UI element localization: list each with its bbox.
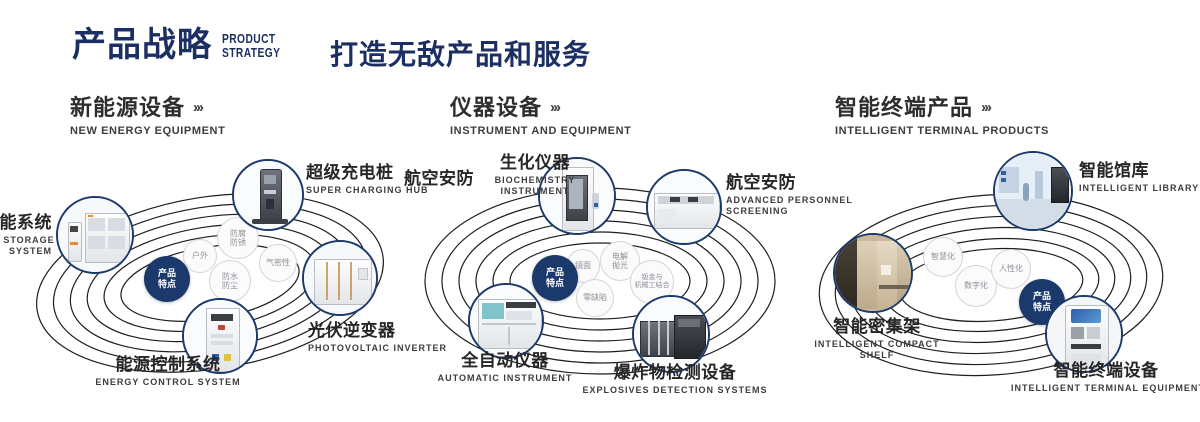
- product-node-intelligent-library[interactable]: [993, 151, 1073, 231]
- product-node-automatic-instrument[interactable]: [468, 283, 544, 359]
- product-node-photovoltaic-inverter[interactable]: [302, 240, 378, 316]
- feature-bubble: 防水防尘: [209, 260, 251, 302]
- page-header: 产品战略 PRODUCT STRATEGY 打造无敌产品和服务: [0, 0, 1200, 88]
- page-title-english: PRODUCT STRATEGY: [222, 30, 280, 59]
- feature-bubble: 气密性: [259, 244, 297, 282]
- feature-bubble: 零缺陷: [576, 279, 614, 317]
- product-label-biochemistry-instrument: 生化仪器 BIOCHEMISTRYINSTRUMENT: [460, 153, 610, 198]
- product-label-energy-control-system: 能源控制系统 ENERGY CONTROL SYSTEM: [68, 355, 268, 388]
- product-label-intelligent-terminal-equipment: 智能终端设备 INTELLIGENT TERMINAL EQUIPMENT: [1011, 361, 1200, 394]
- infographic-root: 产品战略 PRODUCT STRATEGY 打造无敌产品和服务 新能源设备 ››…: [0, 0, 1200, 422]
- product-node-intelligent-compact-shelf[interactable]: [833, 233, 913, 313]
- page-title-english-line2: STRATEGY: [222, 47, 280, 60]
- header-title-group: 产品战略 PRODUCT STRATEGY: [72, 28, 293, 62]
- section-title-intelligent-terminal: 智能终端产品 ››› INTELLIGENT TERMINAL PRODUCTS: [835, 96, 1049, 137]
- core-badge-product-features: 产品特点: [144, 256, 190, 302]
- product-node-energy-storage[interactable]: [56, 196, 134, 274]
- product-label-energy-storage: 储能系统 ENERGY STORAGESYSTEM: [0, 213, 52, 258]
- section-title-cn: 新能源设备: [70, 96, 185, 120]
- feature-bubble: 智慧化: [923, 237, 963, 277]
- product-label-intelligent-compact-shelf: 智能密集架 INTELLIGENT COMPACTSHELF: [787, 317, 967, 362]
- product-label-explosives-detection: 爆炸物检测设备 EXPLOSIVES DETECTION SYSTEMS: [580, 363, 770, 396]
- cluster-instrument: 镜面 电解抛光 钣金与机械工结合 零缺陷 产品特点 航空安防 生化仪器 BIOC…: [400, 155, 800, 405]
- chevron-right-icon: ›››: [550, 100, 559, 117]
- page-subtitle: 打造无敌产品和服务: [330, 33, 591, 73]
- feature-bubble: 人性化: [991, 249, 1031, 289]
- section-title-en: INTELLIGENT TERMINAL PRODUCTS: [835, 125, 1049, 137]
- section-title-cn: 仪器设备: [450, 96, 542, 120]
- product-node-super-charging-hub[interactable]: [232, 159, 304, 231]
- section-title-en: INSTRUMENT AND EQUIPMENT: [450, 125, 631, 137]
- section-title-instrument: 仪器设备 ››› INSTRUMENT AND EQUIPMENT: [450, 96, 631, 137]
- product-node-advanced-personnel-screening[interactable]: [646, 169, 722, 245]
- section-title-cn: 智能终端产品: [835, 96, 973, 120]
- chevron-right-icon: ›››: [193, 100, 202, 117]
- page-title: 产品战略: [72, 28, 212, 62]
- cluster-new-energy: 户外 防腐防锈 防水防尘 气密性 产品特点 储能系统 EN: [10, 155, 410, 405]
- product-label-intelligent-library: 智能馆库 INTELLIGENT LIBRARY: [1079, 161, 1200, 194]
- section-title-en: NEW ENERGY EQUIPMENT: [70, 125, 225, 137]
- chevron-right-icon: ›››: [981, 100, 990, 117]
- product-label-automatic-instrument: 全自动仪器 AUTOMATIC INSTRUMENT: [410, 351, 600, 384]
- cluster-intelligent-terminal: 智慧化 数字化 人性化 产品特点 智能馆库 INTELLIGENT LIBRAR…: [795, 155, 1195, 405]
- section-title-new-energy: 新能源设备 ››› NEW ENERGY EQUIPMENT: [70, 96, 225, 137]
- product-node-explosives-detection[interactable]: [632, 295, 710, 373]
